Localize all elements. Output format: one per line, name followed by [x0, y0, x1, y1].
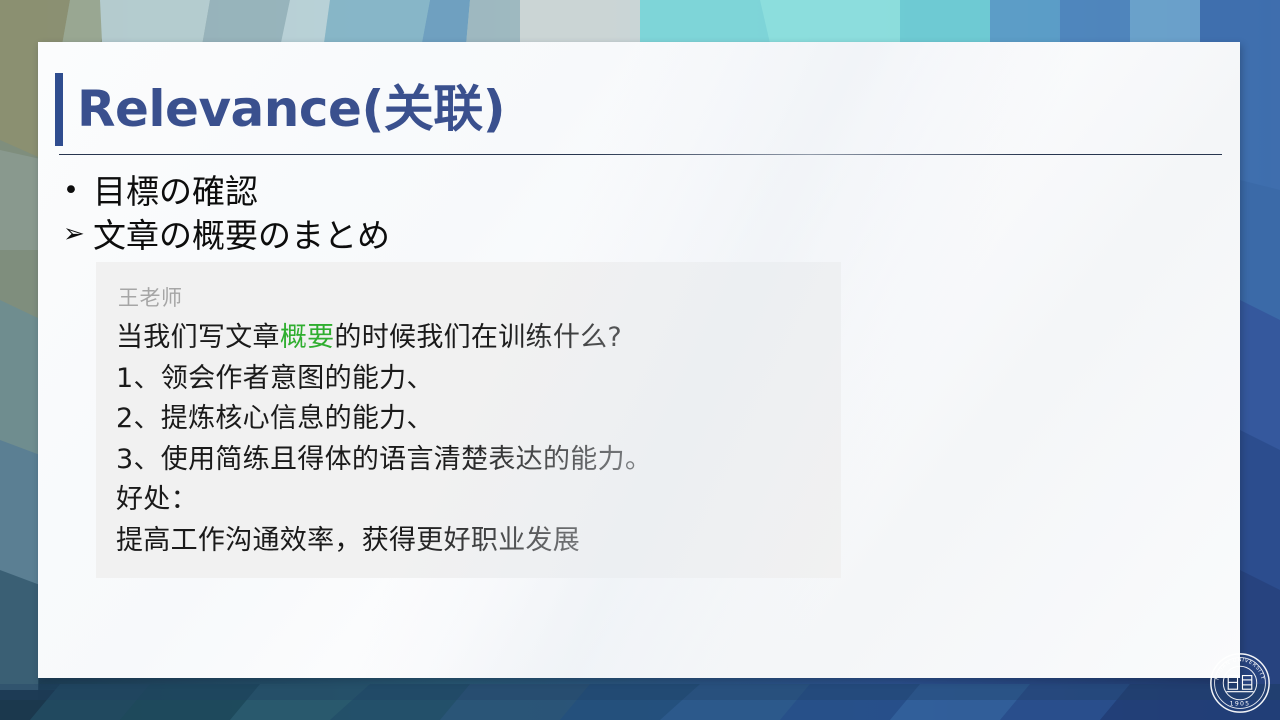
slide-title-row: Relevance(关联): [55, 61, 505, 157]
bullet-item-2-label: 文章の概要のまとめ: [93, 214, 390, 258]
bullet-arrow-icon: ➢: [63, 214, 93, 254]
slide-root: Relevance(关联) • 目標の確認 ➢ 文章の概要のまとめ 王老师 当我…: [0, 0, 1280, 720]
title-accent-bar: [55, 73, 63, 146]
quote-highlight-text: 概要: [280, 322, 335, 353]
quote-text: 的时候我们在训练什么?: [334, 322, 622, 353]
page-title: Relevance(关联): [77, 84, 505, 134]
bullet-list: • 目標の確認 ➢ 文章の概要のまとめ: [63, 170, 963, 258]
quote-line: 提高工作沟通效率，获得更好职业发展: [116, 521, 833, 562]
quote-line: 1、领会作者意图的能力、: [116, 359, 833, 400]
quote-line: 好处：: [116, 480, 833, 521]
slide-content-card: Relevance(关联) • 目標の確認 ➢ 文章の概要のまとめ 王老师 当我…: [38, 42, 1240, 678]
title-divider: [59, 154, 1222, 155]
quote-body: 当我们写文章概要的时候我们在训练什么? 1、领会作者意图的能力、 2、提炼核心信…: [116, 318, 833, 561]
quote-author: 王老师: [118, 282, 183, 312]
quote-line: 当我们写文章概要的时候我们在训练什么?: [116, 318, 833, 359]
quote-line: 2、提炼核心信息的能力、: [116, 399, 833, 440]
bullet-item-1-label: 目標の確認: [93, 170, 258, 214]
quote-text: 当我们写文章: [116, 322, 280, 353]
fudan-university-seal-icon: FUDAN UNIVERSITY 1905: [1209, 652, 1271, 714]
bullet-item-1: • 目標の確認: [63, 170, 963, 214]
bullet-item-2: ➢ 文章の概要のまとめ: [63, 214, 963, 258]
bullet-dot-icon: •: [63, 170, 93, 211]
quote-line: 3、使用简练且得体的语言清楚表达的能力。: [116, 440, 833, 481]
quote-image-block: 王老师 当我们写文章概要的时候我们在训练什么? 1、领会作者意图的能力、 2、提…: [96, 262, 841, 578]
seal-year: 1905: [1230, 700, 1251, 707]
